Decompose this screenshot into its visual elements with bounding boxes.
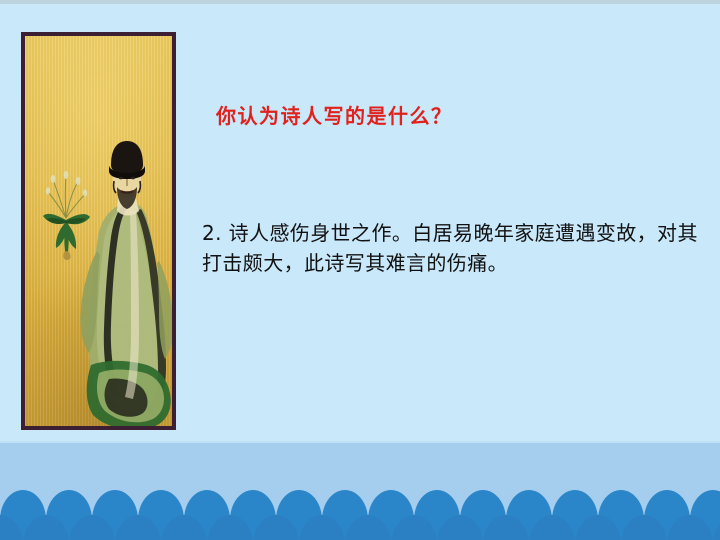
dome-shape (667, 515, 713, 540)
dome-shape (345, 515, 391, 540)
dome-shape (23, 515, 69, 540)
dome-shape (483, 515, 529, 540)
question-heading: 你认为诗人写的是什么？ (216, 104, 453, 129)
dome-shape (253, 515, 299, 540)
dome-row-front (0, 515, 720, 540)
painting-image (21, 32, 176, 430)
slide-canvas: 你认为诗人写的是什么？ 2. 诗人感伤身世之作。白居易晚年家庭遭遇变故，对其 打… (0, 0, 720, 540)
dome-shape (207, 515, 253, 540)
dome-shape (299, 515, 345, 540)
dome-shape (69, 515, 115, 540)
bottom-decorative-band (0, 443, 720, 540)
scholar-figure-illustration (73, 141, 176, 430)
dome-shape (115, 515, 161, 540)
answer-body-text: 2. 诗人感伤身世之作。白居易晚年家庭遭遇变故，对其 打击颇大，此诗写其难言的伤… (202, 218, 718, 278)
dome-shape (621, 515, 667, 540)
dome-shape (575, 515, 621, 540)
dome-shape (713, 515, 720, 540)
dome-shape (391, 515, 437, 540)
dome-shape (437, 515, 483, 540)
dome-shape (161, 515, 207, 540)
dome-shape (529, 515, 575, 540)
dome-shape (0, 515, 23, 540)
